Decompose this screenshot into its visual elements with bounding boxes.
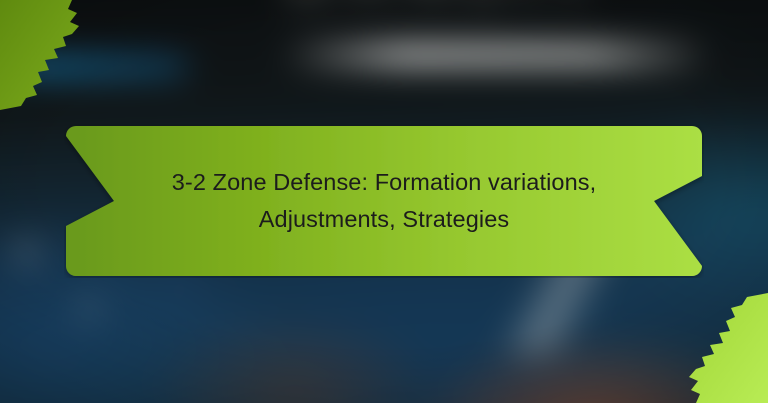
page-title-line-1: 3-2 Zone Defense: Formation variations, bbox=[172, 164, 597, 201]
banner-text-block: 3-2 Zone Defense: Formation variations, … bbox=[64, 124, 704, 278]
page-title-line-2: Adjustments, Strategies bbox=[259, 201, 509, 238]
poster-canvas: BANDIT bbox=[0, 0, 768, 403]
ribbon-banner: 3-2 Zone Defense: Formation variations, … bbox=[64, 124, 704, 278]
